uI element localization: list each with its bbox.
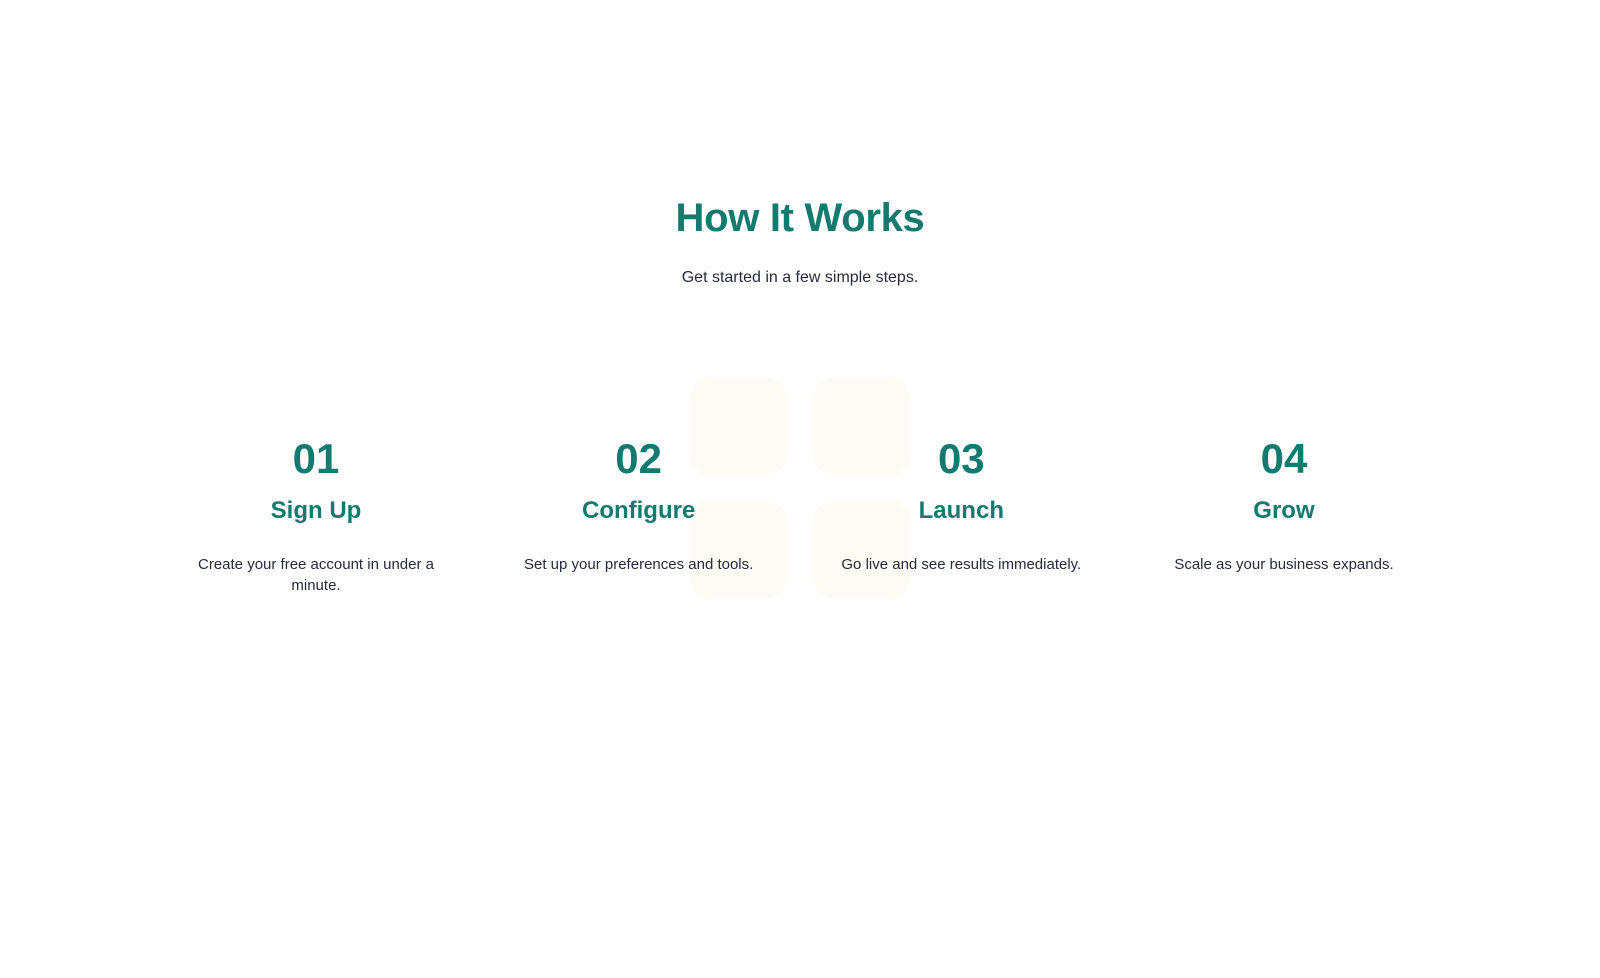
step-item-3: 03 Launch Go live and see results immedi…	[821, 436, 1101, 575]
step-title-4: Grow	[1144, 496, 1424, 526]
page-title: How It Works	[0, 194, 1600, 242]
section-subtitle: Get started in a few simple steps.	[0, 267, 1600, 289]
step-title-1: Sign Up	[176, 496, 456, 526]
step-description-4: Scale as your business expands.	[1164, 554, 1404, 575]
step-description-1: Create your free account in under a minu…	[196, 554, 436, 596]
step-number-3: 03	[821, 436, 1101, 482]
step-description-3: Go live and see results immediately.	[841, 554, 1081, 575]
step-number-1: 01	[176, 436, 456, 482]
step-description-2: Set up your preferences and tools.	[519, 554, 759, 575]
steps-list: 01 Sign Up Create your free account in u…	[176, 436, 1424, 596]
step-item-1: 01 Sign Up Create your free account in u…	[176, 436, 456, 596]
step-number-4: 04	[1144, 436, 1424, 482]
step-title-3: Launch	[821, 496, 1101, 526]
step-item-2: 02 Configure Set up your preferences and…	[499, 436, 779, 575]
step-number-2: 02	[499, 436, 779, 482]
how-it-works-section: How It Works Get started in a few simple…	[0, 0, 1600, 978]
step-item-4: 04 Grow Scale as your business expands.	[1144, 436, 1424, 575]
step-title-2: Configure	[499, 496, 779, 526]
